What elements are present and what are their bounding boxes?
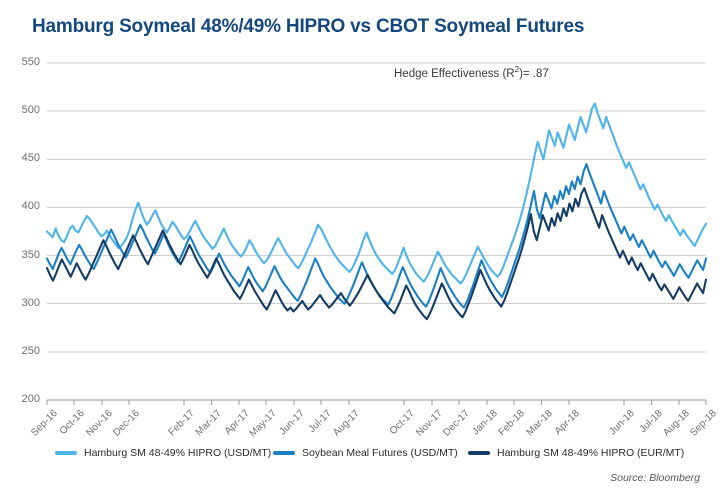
legend-item[interactable]: Soybean Meal Futures (USD/MT) [273,444,458,462]
y-tick-label: 450 [4,152,40,164]
source-caption: Source: Bloomberg [610,472,700,484]
y-tick-label: 350 [4,249,40,261]
series-line [47,164,706,307]
legend-item[interactable]: Hamburg SM 48-49% HIPRO (USD/MT) [55,444,271,462]
y-tick-label: 200 [4,393,40,405]
legend-label: Hamburg SM 48-49% HIPRO (USD/MT) [84,447,271,459]
legend-label: Hamburg SM 48-49% HIPRO (EUR/MT) [497,447,684,459]
y-tick-label: 550 [4,56,40,68]
y-tick-label: 400 [4,200,40,212]
y-tick-label: 300 [4,297,40,309]
chart-container: Hamburg Soymeal 48%/49% HIPRO vs CBOT So… [0,0,720,500]
legend-item[interactable]: Hamburg SM 48-49% HIPRO (EUR/MT) [468,444,684,462]
legend-color-swatch [468,451,490,455]
legend-color-swatch [55,451,77,455]
y-tick-label: 500 [4,104,40,116]
legend-color-swatch [273,451,295,455]
series-line [47,103,706,283]
legend-label: Soybean Meal Futures (USD/MT) [302,447,458,459]
y-tick-label: 250 [4,345,40,357]
chart-legend: Hamburg SM 48-49% HIPRO (USD/MT)Soybean … [0,444,720,462]
